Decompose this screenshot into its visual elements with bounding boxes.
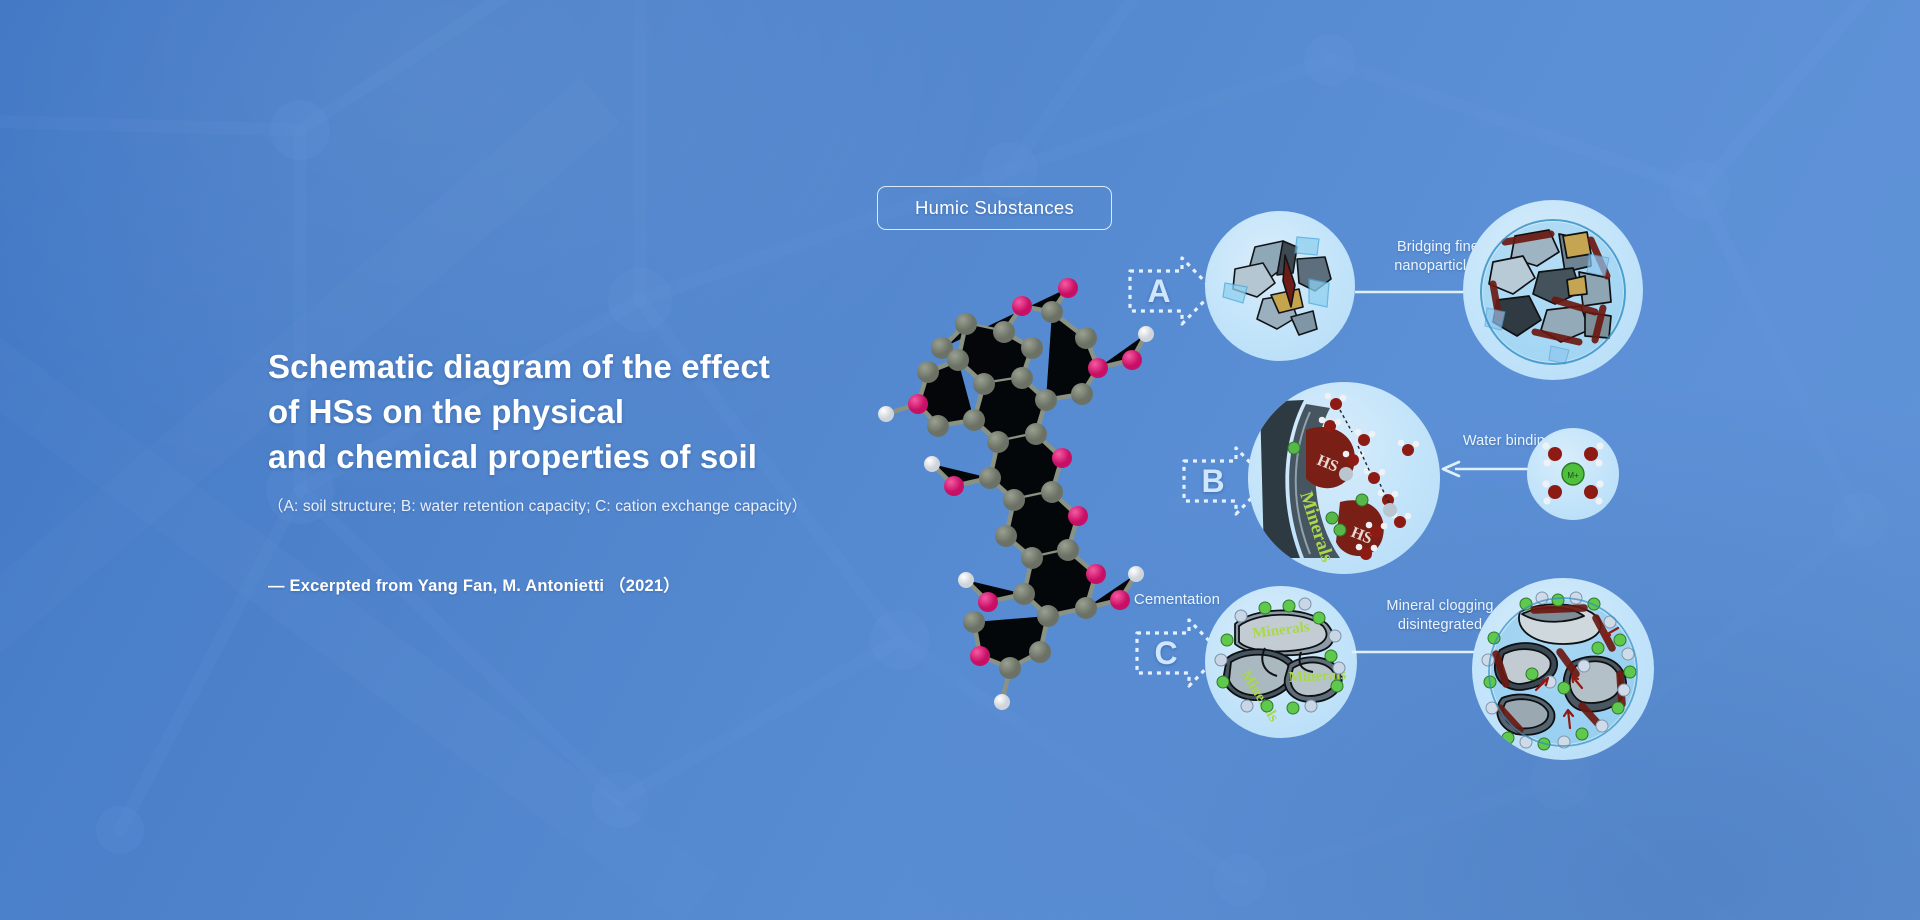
circle-a-left	[1205, 211, 1355, 361]
disintegrated-minerals-illustration	[1472, 578, 1654, 760]
humic-substances-chip[interactable]: Humic Substances	[877, 186, 1112, 230]
slide-canvas: Schematic diagram of the effect of HSs o…	[0, 0, 1920, 920]
water-retention-illustration: Minerals HS HS	[1248, 382, 1440, 574]
loose-soil-particles-illustration	[1205, 211, 1355, 361]
hydrated-cation-illustration: M+	[1527, 428, 1619, 520]
cementation-label-text: Cementation	[1134, 591, 1220, 608]
circle-b-left: Minerals HS HS	[1248, 382, 1440, 574]
row-badge-b-label: B	[1180, 443, 1246, 519]
row-badge-c-label: C	[1133, 615, 1199, 691]
mineral-cementation-illustration: Minerals Minerals Minerals	[1205, 586, 1357, 738]
humic-molecule-illustration	[846, 228, 1166, 728]
circle-c-right	[1472, 578, 1654, 760]
cation-symbol: M+	[1567, 471, 1579, 480]
humic-substances-chip-label: Humic Substances	[915, 197, 1074, 219]
circle-b-right: M+	[1527, 428, 1619, 520]
circle-c-left: Minerals Minerals Minerals	[1205, 586, 1357, 738]
row-badge-a-label: A	[1126, 253, 1192, 329]
diagram-area: Humic Substances	[0, 0, 1920, 920]
aggregated-soil-illustration	[1463, 200, 1643, 380]
circle-a-right	[1463, 200, 1643, 380]
